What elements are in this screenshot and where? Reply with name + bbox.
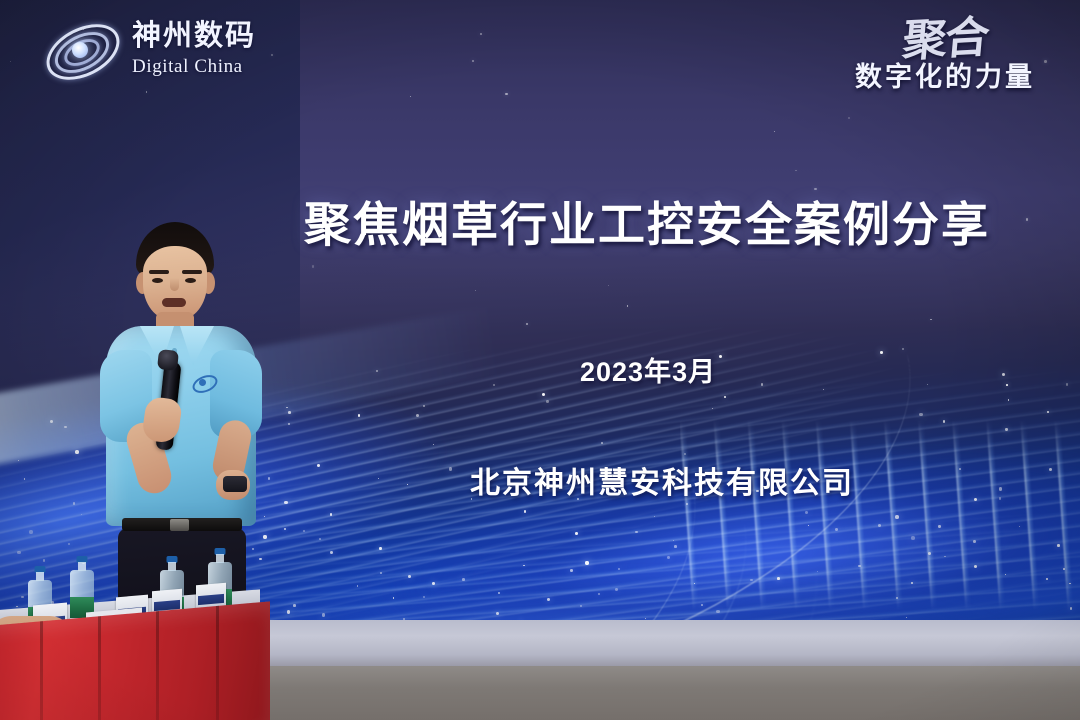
microphone-head-icon [157, 349, 179, 371]
stream-fiber-strands [680, 420, 1080, 610]
presenter-eye-right [185, 278, 196, 283]
presenter-brow-right [182, 270, 202, 274]
slide-title: 聚焦烟草行业工控安全案例分享 [304, 186, 990, 255]
theme-calligraphy: 聚合 [901, 16, 989, 64]
presenter-mouth [162, 298, 186, 307]
presentation-clicker-icon [223, 476, 247, 492]
slide-date: 2023年3月 [580, 350, 716, 389]
presenter-brow-left [149, 270, 169, 274]
presenter-eye-left [152, 278, 163, 283]
digital-china-name-cn: 神州数码 [132, 22, 256, 51]
theme-subtitle: 数字化的力量 [820, 64, 1070, 91]
digital-china-name-en: Digital China [132, 57, 256, 76]
presenter-nose [170, 278, 179, 291]
slide-company-name: 北京神州慧安科技有限公司 [470, 458, 854, 502]
company-badge-icon [192, 372, 218, 394]
galaxy-swoosh-logo-icon [42, 18, 122, 80]
digital-china-logo: 神州数码 Digital China [42, 18, 256, 80]
event-theme-logo: 聚合 数字化的力量 [820, 18, 1070, 91]
conference-stage-photo: 神州数码 Digital China 聚合 数字化的力量 聚焦烟草行业工控安全案… [0, 0, 1080, 720]
presenter-belt-buckle [170, 519, 189, 531]
